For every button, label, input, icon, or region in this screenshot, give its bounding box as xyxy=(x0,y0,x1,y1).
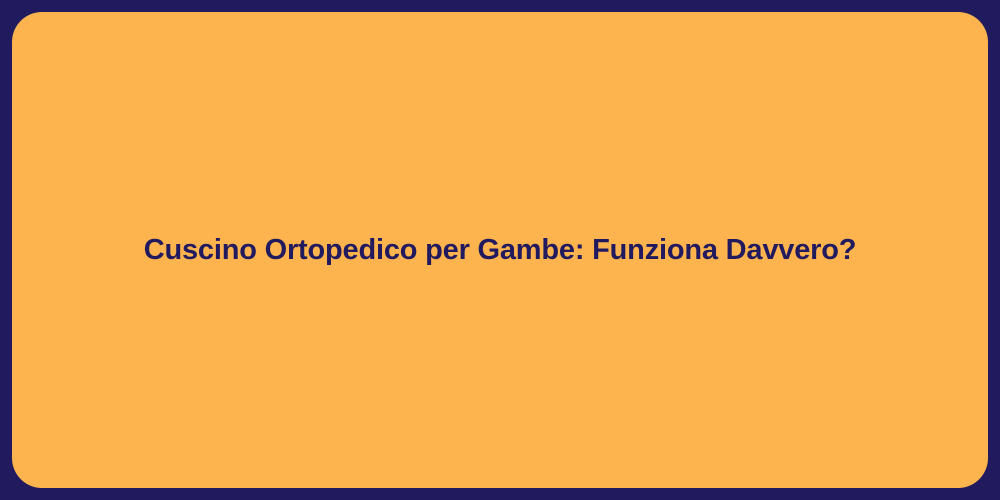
banner-root: Cuscino Ortopedico per Gambe: Funziona D… xyxy=(0,0,1000,500)
content-card: Cuscino Ortopedico per Gambe: Funziona D… xyxy=(12,12,988,488)
page-title: Cuscino Ortopedico per Gambe: Funziona D… xyxy=(104,232,897,268)
